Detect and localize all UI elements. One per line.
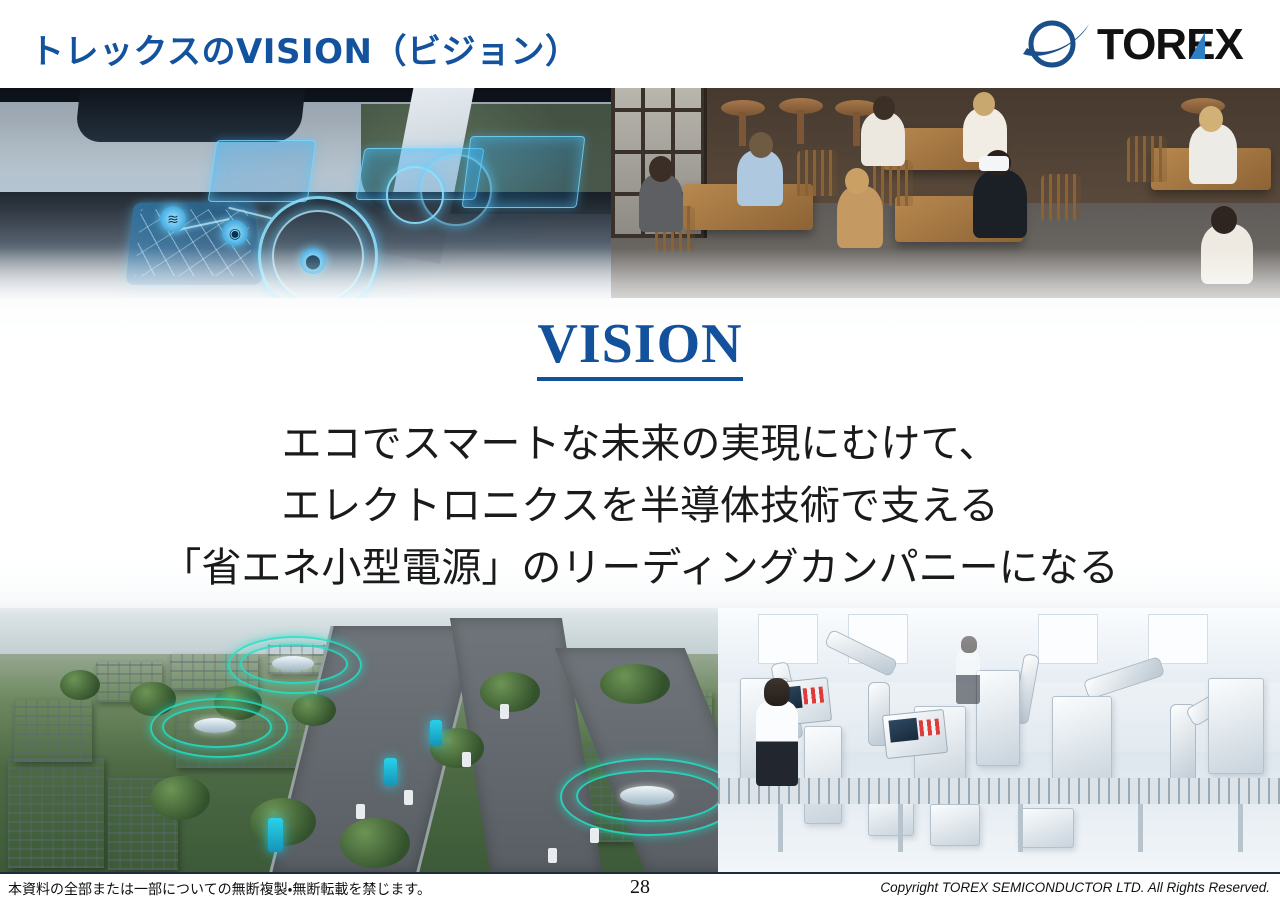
factory-worker — [756, 700, 798, 786]
svg-text:TOREX: TOREX — [1097, 20, 1243, 69]
vision-line-2: エレクトロニクスを半導体技術で支える — [161, 475, 1118, 537]
factory-worker-head — [764, 678, 790, 706]
connected-bus — [268, 818, 283, 852]
factory-worker — [956, 648, 980, 704]
machine-control-panel — [882, 709, 948, 759]
slide-footer: 本資料の全部または一部についての無断複製・無断転載を禁じます。 28 Copyr… — [0, 874, 1280, 905]
smart-city-aerial-photo — [0, 608, 718, 872]
connected-car-cockpit-photo: ≋ ◉ ⬤ — [0, 88, 611, 298]
torex-wordmark: TOREX — [1097, 20, 1243, 69]
footer-copyright: Copyright TOREX SEMICONDUCTOR LTD. All R… — [880, 880, 1270, 895]
page-title: トレックスのVISION（ビジョン） — [30, 24, 579, 73]
orbit-circle-mark — [1023, 23, 1089, 65]
vision-line-3: 「省エネ小型電源」のリーディングカンパニーになる — [161, 537, 1118, 599]
smart-factory-robots-photo — [718, 608, 1280, 872]
vision-line-1: エコでスマートな未来の実現にむけて、 — [161, 413, 1118, 475]
wifi-icon: ≋ — [160, 206, 186, 232]
car-status-icon: ⬤ — [300, 248, 326, 274]
torex-logo: TOREX — [1019, 14, 1264, 72]
connected-bus — [430, 720, 442, 746]
location-pin-icon: ◉ — [222, 220, 248, 246]
slide-header: トレックスのVISION（ビジョン） TOREX — [0, 0, 1280, 88]
vr-headset-icon — [979, 156, 1009, 171]
connected-bus — [384, 758, 397, 786]
vision-heading: VISION — [537, 316, 742, 381]
factory-worker-head — [961, 636, 977, 653]
vision-statement: エコでスマートな未来の実現にむけて、 エレクトロニクスを半導体技術で支える 「省… — [161, 413, 1118, 599]
cafe-people-devices-photo — [611, 88, 1280, 298]
